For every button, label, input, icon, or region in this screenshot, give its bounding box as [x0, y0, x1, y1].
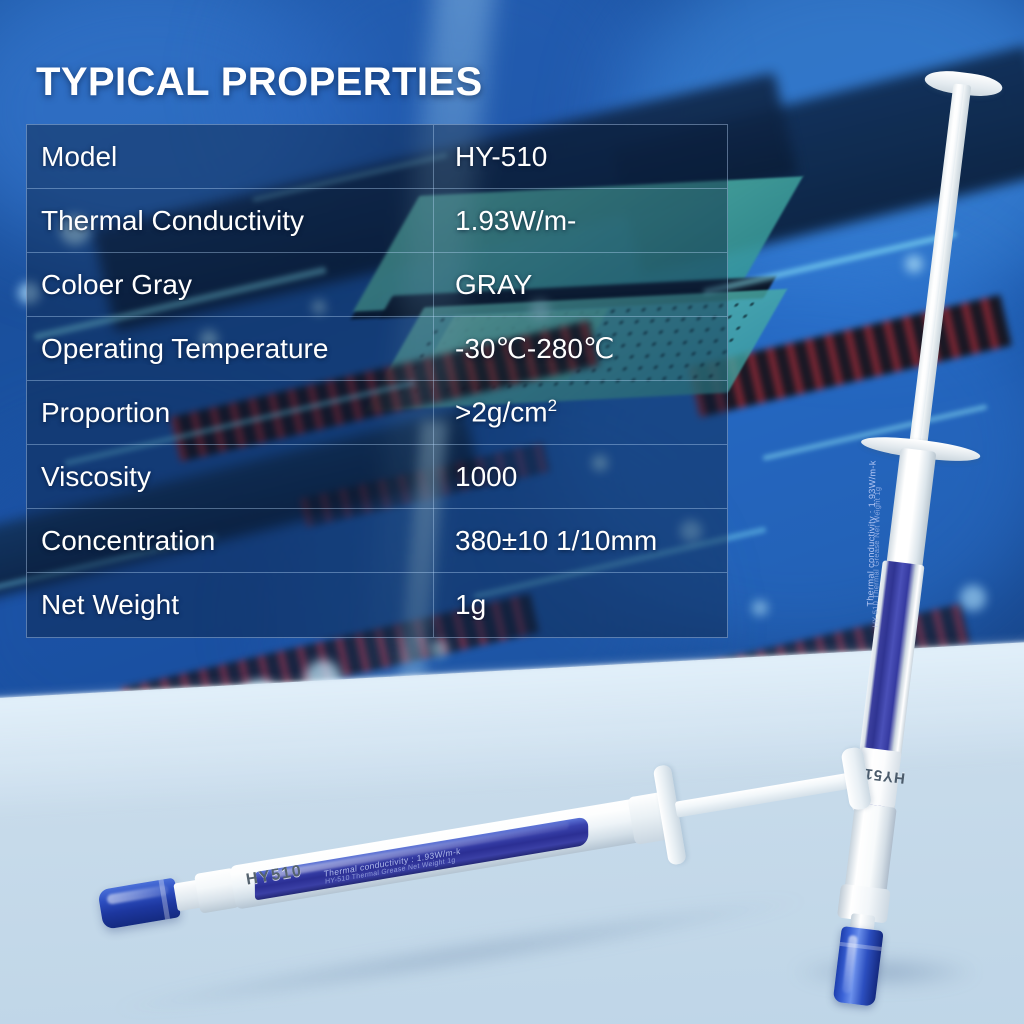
spec-value: -30℃-280℃ — [434, 332, 727, 365]
spec-value: GRAY — [434, 269, 727, 301]
bokeh-highlight — [430, 640, 448, 658]
table-row: Proportion >2g/cm2 — [27, 381, 727, 445]
spec-key: Concentration — [27, 525, 433, 557]
spec-key: Operating Temperature — [27, 333, 433, 365]
table-row: Net Weight 1g — [27, 573, 727, 637]
page-title: TYPICAL PROPERTIES — [36, 60, 483, 105]
product-spec-image: TYPICAL PROPERTIES Model HY-510 Thermal … — [0, 0, 1024, 1024]
table-row: Operating Temperature -30℃-280℃ — [27, 317, 727, 381]
spec-value: 1000 — [434, 461, 727, 493]
table-row: Model HY-510 — [27, 125, 727, 189]
spec-value: HY-510 — [434, 141, 727, 173]
table-row: Concentration 380±10 1/10mm — [27, 509, 727, 573]
bokeh-highlight — [752, 600, 768, 616]
lying-syringe: Thermal conductivity : 1.93W/m-k HY-510 … — [88, 800, 888, 990]
table-row: Thermal Conductivity 1.93W/m- — [27, 189, 727, 253]
spec-value-text: >2g/cm — [455, 397, 548, 428]
spec-key: Viscosity — [27, 461, 433, 493]
barrel-spec-text-secondary: HY-510 Thermal Grease Net Weight 1g — [871, 447, 890, 627]
spec-table: Model HY-510 Thermal Conductivity 1.93W/… — [26, 124, 728, 638]
table-row: Coloer Gray GRAY — [27, 253, 727, 317]
table-row: Viscosity 1000 — [27, 445, 727, 509]
spec-value: 380±10 1/10mm — [434, 525, 727, 557]
spec-key: Net Weight — [27, 589, 433, 621]
spec-key: Proportion — [27, 397, 433, 429]
spec-value-superscript: 2 — [548, 396, 557, 415]
syringe-barrel-upper — [886, 448, 936, 571]
plunger-rod-fin — [914, 84, 964, 462]
plunger-rod — [675, 771, 865, 818]
spec-value: >2g/cm2 — [434, 396, 727, 428]
spec-value: 1g — [434, 589, 727, 621]
spec-key: Model — [27, 141, 433, 173]
spec-key: Thermal Conductivity — [27, 205, 433, 237]
spec-key: Coloer Gray — [27, 269, 433, 301]
spec-value: 1.93W/m- — [434, 205, 727, 237]
plunger-thumb-pad — [840, 746, 872, 811]
